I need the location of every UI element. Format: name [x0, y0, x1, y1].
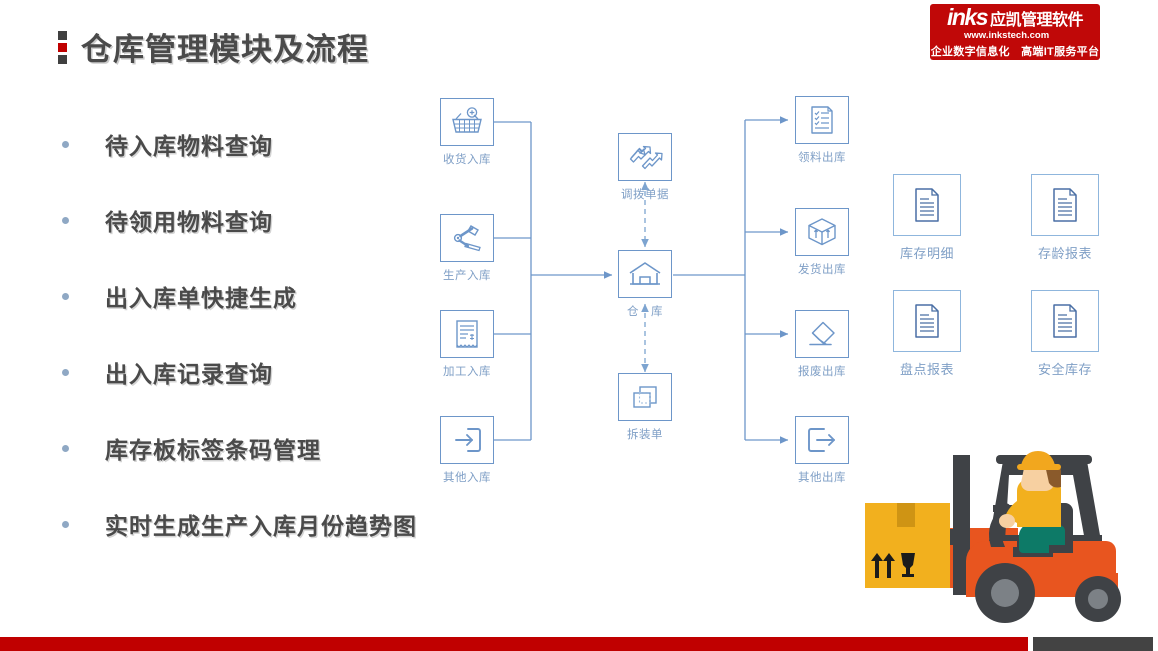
report-icon-frame: [893, 290, 961, 352]
node-icon-frame: [795, 310, 849, 358]
flow-node-transfer-document[interactable]: 调拨单据: [618, 133, 672, 202]
list-item-label: 库存板标签条码管理: [105, 431, 321, 465]
report-item-inventory-detail[interactable]: 库存明细: [893, 174, 961, 262]
node-icon-frame: [795, 96, 849, 144]
flow-node-warehouse[interactable]: 仓 库: [618, 250, 672, 319]
logo-wordmark: inks: [947, 6, 987, 29]
report-row: 库存明细 存龄报表: [893, 174, 1099, 262]
bullet-dot-icon: [62, 293, 69, 300]
bullet-dot-icon: [62, 521, 69, 528]
eraser-scrap-icon: [805, 319, 839, 349]
document-report-icon: [911, 302, 943, 340]
node-icon-frame: [795, 208, 849, 256]
flow-node-outbound-scrap[interactable]: 报废出库: [795, 310, 849, 379]
flow-node-inbound-receiving[interactable]: 收货入库: [440, 98, 494, 167]
page-title-text: 仓库管理模块及流程: [81, 24, 369, 69]
flow-node-outbound-other[interactable]: 其他出库: [795, 416, 849, 485]
report-label: 安全库存: [1038, 359, 1092, 378]
list-item-label: 待入库物料查询: [105, 127, 273, 161]
node-label: 发货出库: [798, 261, 846, 277]
logo-company-name-cn: 应凯管理软件: [990, 13, 1083, 29]
warehouse-icon: [627, 259, 663, 289]
list-item: 出入库单快捷生成: [62, 258, 482, 334]
node-label: 仓 库: [627, 303, 663, 319]
list-item: 实时生成生产入库月份趋势图: [62, 486, 482, 562]
list-item: 待入库物料查询: [62, 106, 482, 182]
report-label: 存龄报表: [1038, 243, 1092, 262]
report-grid: 库存明细 存龄报表: [893, 174, 1099, 378]
bullet-dot-icon: [62, 445, 69, 452]
invoice-document-icon: [453, 318, 481, 350]
report-item-stocktaking-report[interactable]: 盘点报表: [893, 290, 961, 378]
flow-node-inbound-production[interactable]: 生产入库: [440, 214, 494, 283]
logo-tagline: 企业数字信息化 高端IT服务平台: [931, 43, 1100, 59]
node-label: 其他入库: [443, 469, 491, 485]
footer-bar-red: [0, 637, 1028, 651]
flow-node-assembly-order[interactable]: 拆装单: [618, 373, 672, 442]
document-report-icon: [911, 186, 943, 224]
list-item-label: 实时生成生产入库月份趋势图: [105, 507, 417, 541]
node-label: 调拨单据: [621, 186, 669, 202]
report-item-aging-report[interactable]: 存龄报表: [1031, 174, 1099, 262]
flow-node-outbound-shipping[interactable]: 发货出库: [795, 208, 849, 277]
slide-canvas: inks 应凯管理软件 www.inkstech.com 企业数字信息化 高端I…: [0, 0, 1158, 651]
node-icon-frame: [440, 310, 494, 358]
transfer-arrows-icon: [627, 142, 663, 172]
bullet-dot-icon: [62, 369, 69, 376]
feature-list: 待入库物料查询 待领用物料查询 出入库单快捷生成 出入库记录查询 库存板标签条码…: [62, 106, 482, 562]
report-item-safety-stock[interactable]: 安全库存: [1031, 290, 1099, 378]
list-item: 待领用物料查询: [62, 182, 482, 258]
shipping-box-icon: [806, 216, 838, 248]
list-item-label: 出入库单快捷生成: [105, 279, 297, 313]
arrow-into-box-icon: [451, 425, 483, 455]
checklist-document-icon: [808, 104, 836, 136]
flow-node-inbound-other[interactable]: 其他入库: [440, 416, 494, 485]
report-icon-frame: [1031, 290, 1099, 352]
node-label: 其他出库: [798, 469, 846, 485]
flow-node-inbound-processing[interactable]: 加工入库: [440, 310, 494, 379]
node-label: 拆装单: [627, 426, 663, 442]
list-item: 出入库记录查询: [62, 334, 482, 410]
node-icon-frame: [618, 250, 672, 298]
title-marker-icon: [58, 31, 67, 64]
report-icon-frame: [893, 174, 961, 236]
report-label: 盘点报表: [900, 359, 954, 378]
node-label: 领料出库: [798, 149, 846, 165]
page-title: 仓库管理模块及流程: [58, 24, 369, 69]
node-icon-frame: [618, 373, 672, 421]
robot-arm-icon: [450, 223, 484, 253]
node-label: 报废出库: [798, 363, 846, 379]
node-label: 生产入库: [443, 267, 491, 283]
node-label: 加工入库: [443, 363, 491, 379]
report-icon-frame: [1031, 174, 1099, 236]
node-icon-frame: [440, 98, 494, 146]
footer-bar-gray: [1033, 637, 1153, 651]
list-item-label: 待领用物料查询: [105, 203, 273, 237]
bullet-dot-icon: [62, 217, 69, 224]
flow-node-outbound-picking[interactable]: 领料出库: [795, 96, 849, 165]
bullet-dot-icon: [62, 141, 69, 148]
node-icon-frame: [440, 416, 494, 464]
assembly-squares-icon: [629, 382, 661, 412]
document-report-icon: [1049, 186, 1081, 224]
report-label: 库存明细: [900, 243, 954, 262]
logo-website-url: www.inkstech.com: [964, 30, 1049, 41]
document-report-icon: [1049, 302, 1081, 340]
company-logo: inks 应凯管理软件 www.inkstech.com 企业数字信息化 高端I…: [930, 4, 1100, 60]
logo-primary-row: inks 应凯管理软件: [947, 6, 1083, 29]
report-row: 盘点报表 安全库存: [893, 290, 1099, 378]
exit-arrow-icon: [805, 425, 839, 455]
node-icon-frame: [795, 416, 849, 464]
shopping-basket-plus-icon: [450, 107, 484, 137]
list-item-label: 出入库记录查询: [105, 355, 273, 389]
node-icon-frame: [440, 214, 494, 262]
list-item: 库存板标签条码管理: [62, 410, 482, 486]
node-icon-frame: [618, 133, 672, 181]
node-label: 收货入库: [443, 151, 491, 167]
forklift-with-crate-illustration: [855, 443, 1150, 623]
